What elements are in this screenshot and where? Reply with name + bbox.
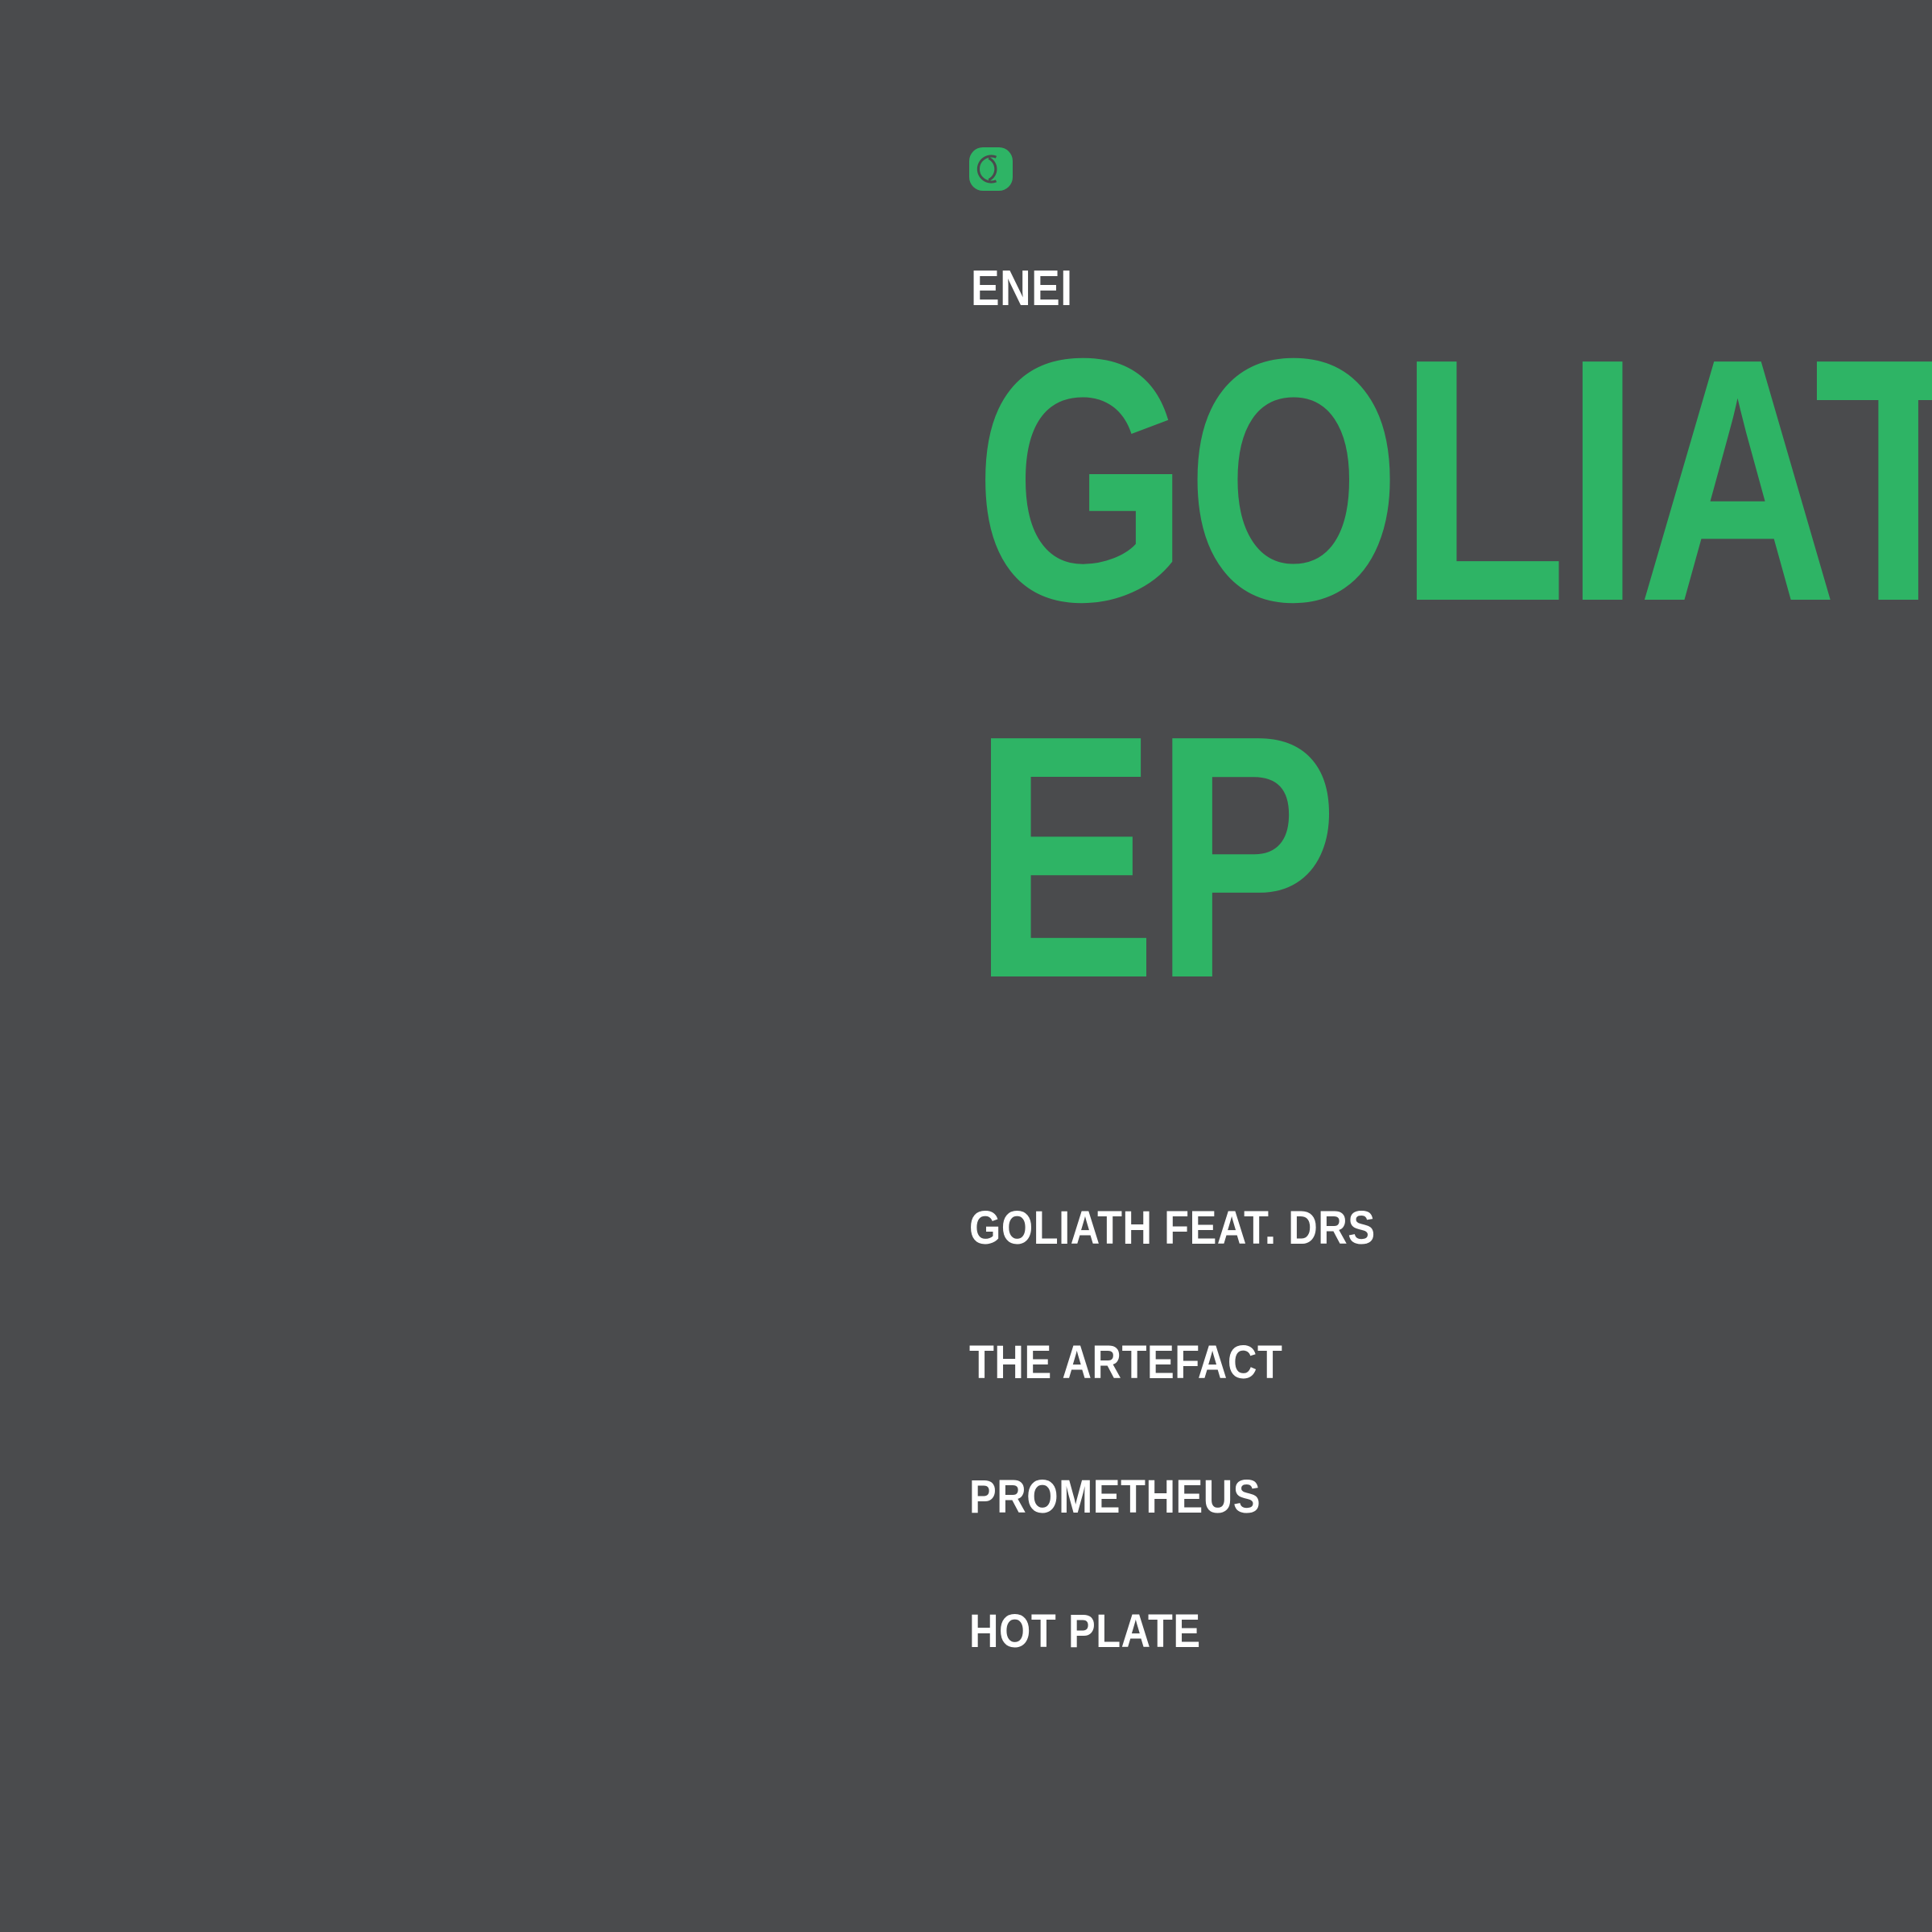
release-title-line-1: GOLIATH bbox=[974, 346, 1932, 616]
tracklist-item: THE ARTEFACT bbox=[969, 1340, 1932, 1474]
track-title: GOLIATH FEAT. DRS bbox=[969, 1205, 1807, 1252]
tracklist-item: HOT PLATE bbox=[969, 1608, 1932, 1743]
release-title: GOLIATH EP bbox=[969, 346, 1932, 1167]
release-title-line-2: EP bbox=[972, 723, 1335, 993]
cover-content-column: ENEI GOLIATH EP GOLIATH FEAT. DRS THE AR… bbox=[969, 0, 1932, 1932]
circle-bracket-logo-icon bbox=[969, 147, 1013, 191]
artist-name: ENEI bbox=[971, 264, 1073, 314]
tracklist-item: GOLIATH FEAT. DRS bbox=[969, 1205, 1932, 1340]
track-title: THE ARTEFACT bbox=[969, 1340, 1807, 1386]
tracklist: GOLIATH FEAT. DRS THE ARTEFACT PROMETHEU… bbox=[969, 1205, 1932, 1743]
tracklist-item: PROMETHEUS bbox=[969, 1474, 1932, 1608]
track-title: HOT PLATE bbox=[969, 1608, 1807, 1655]
album-cover-artwork: ENEI GOLIATH EP GOLIATH FEAT. DRS THE AR… bbox=[0, 0, 1932, 1932]
track-title: PROMETHEUS bbox=[969, 1474, 1807, 1521]
